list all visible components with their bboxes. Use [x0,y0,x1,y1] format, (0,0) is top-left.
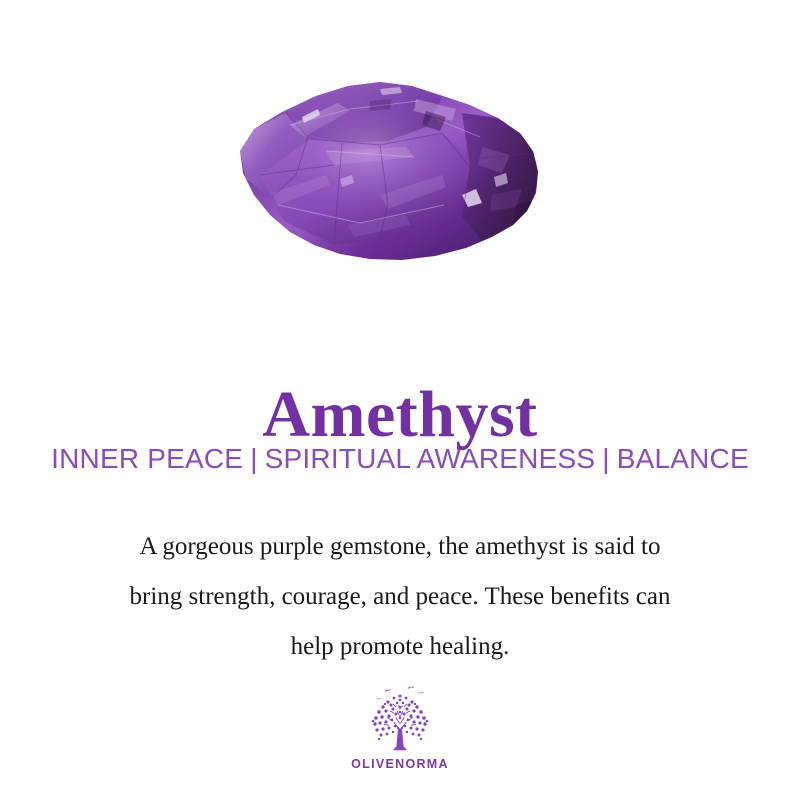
keyword-inner-peace: INNER PEACE [51,443,243,474]
keyword-row: INNER PEACE|SPIRITUAL AWARENESS|BALANCE [0,440,800,478]
amethyst-stone-image [0,55,800,300]
keyword-balance: BALANCE [617,443,749,474]
keyword-spiritual-awareness: SPIRITUAL AWARENESS [265,443,596,474]
brand-logo: OLIVENORMA [0,684,800,771]
keyword-separator-1: | [243,443,264,474]
product-card: Amethyst INNER PEACE|SPIRITUAL AWARENESS… [0,0,800,800]
product-description: A gorgeous purple gemstone, the amethyst… [50,522,750,672]
keyword-separator-2: | [595,443,616,474]
olive-tree-icon [363,684,437,756]
description-line-1: A gorgeous purple gemstone, the amethyst… [50,522,750,572]
amethyst-stone-icon [230,55,570,285]
brand-name: OLIVENORMA [0,757,800,771]
description-line-2: bring strength, courage, and peace. Thes… [50,572,750,622]
description-line-3: help promote healing. [50,622,750,672]
